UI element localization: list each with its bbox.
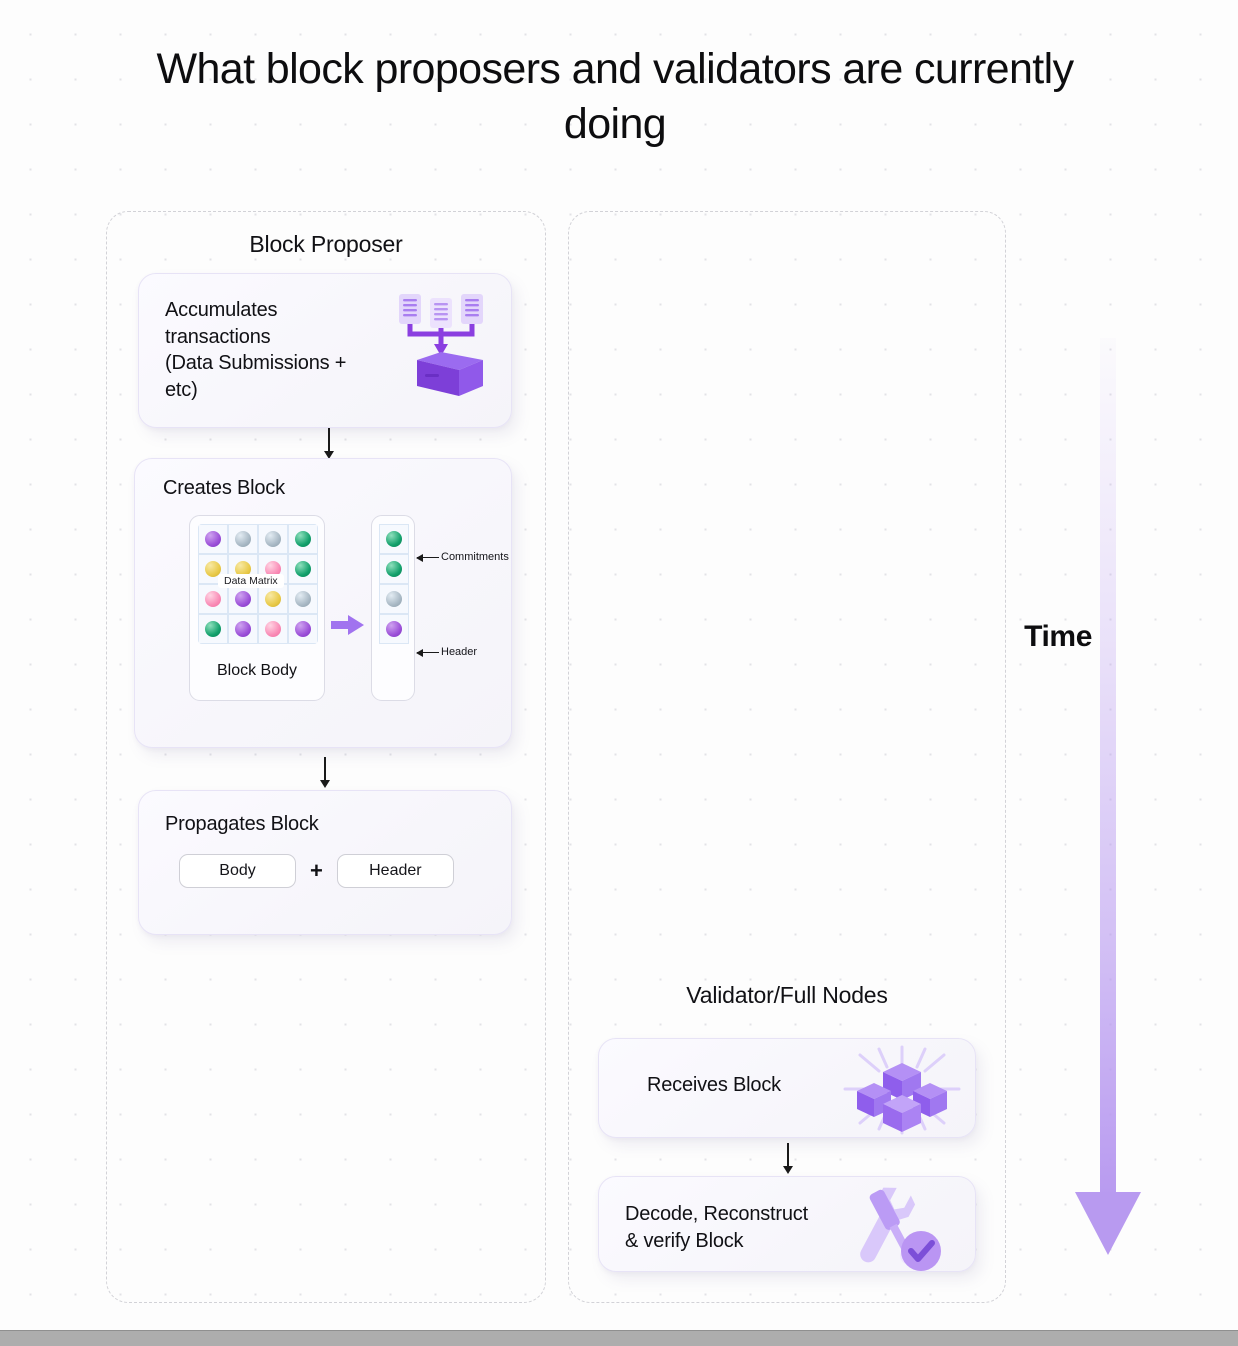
matrix-cell	[228, 614, 258, 644]
card-creates-block: Creates Block Data Matrix Block Body	[134, 458, 512, 748]
block-body-caption: Block Body	[190, 662, 324, 680]
commitment-cell	[379, 524, 409, 554]
window-bottom-bar	[0, 1330, 1238, 1346]
wrench-check-icon	[837, 1181, 947, 1278]
flow-arrow-receives-to-decode	[787, 1143, 789, 1167]
header-pointer-line	[417, 652, 439, 653]
data-dot	[265, 531, 281, 547]
commitment-dot	[386, 531, 402, 547]
data-dot	[295, 591, 311, 607]
flow-arrow-creates-to-propagates	[324, 757, 326, 781]
card-title-accumulates: Accumulates transactions (Data Submissio…	[165, 297, 390, 403]
data-dot	[235, 591, 251, 607]
commitment-cell	[379, 614, 409, 644]
data-dot	[295, 531, 311, 547]
time-axis-arrowhead	[1075, 1192, 1141, 1255]
lane-title-validator: Validator/Full Nodes	[569, 982, 1005, 1009]
card-title-decode: Decode, Reconstruct & verify Block	[625, 1201, 808, 1255]
data-dot	[205, 531, 221, 547]
commitment-cell	[379, 584, 409, 614]
block-body-box: Data Matrix Block Body	[189, 515, 325, 701]
data-dot	[205, 591, 221, 607]
card-decode-reconstruct-verify: Decode, Reconstruct & verify Block	[598, 1176, 976, 1272]
card-propagates-block: Propagates Block Body + Header	[138, 790, 512, 935]
matrix-cell	[288, 584, 318, 614]
data-matrix-label: Data Matrix	[218, 574, 284, 588]
time-axis-label: Time	[1000, 620, 1092, 654]
matrix-cell	[198, 614, 228, 644]
documents-into-box-icon	[397, 290, 489, 405]
propagate-parts-row: Body + Header	[179, 854, 454, 888]
card-title-creates: Creates Block	[163, 475, 285, 502]
pill-header[interactable]: Header	[337, 854, 454, 888]
data-dot	[295, 621, 311, 637]
data-dot	[235, 531, 251, 547]
data-dot	[265, 591, 281, 607]
commitment-cell	[379, 554, 409, 584]
matrix-cell	[198, 524, 228, 554]
annotation-header: Header	[441, 646, 477, 658]
card-receives-block: Receives Block	[598, 1038, 976, 1138]
card-title-propagates: Propagates Block	[165, 811, 319, 838]
block-header-box	[371, 515, 415, 701]
data-dot	[205, 621, 221, 637]
lane-title-proposer: Block Proposer	[107, 231, 545, 258]
matrix-cell	[258, 584, 288, 614]
matrix-cell	[288, 614, 318, 644]
data-dot	[295, 561, 311, 577]
transform-arrow-icon	[331, 614, 365, 636]
matrix-cell	[288, 554, 318, 584]
data-dot	[265, 621, 281, 637]
commitment-dot	[386, 621, 402, 637]
page-title: What block proposers and validators are …	[110, 42, 1120, 152]
commitment-dot	[386, 561, 402, 577]
time-axis-bar	[1100, 338, 1116, 1198]
card-accumulates-transactions: Accumulates transactions (Data Submissio…	[138, 273, 512, 428]
annotation-commitments: Commitments	[441, 551, 509, 563]
matrix-cell	[228, 584, 258, 614]
cube-cluster-icon	[827, 1039, 977, 1144]
card-title-receives: Receives Block	[647, 1072, 781, 1099]
commitments-pointer-line	[417, 557, 439, 558]
matrix-cell	[228, 524, 258, 554]
commitment-dot	[386, 591, 402, 607]
matrix-cell	[288, 524, 318, 554]
data-dot	[235, 621, 251, 637]
matrix-cell	[198, 584, 228, 614]
matrix-cell	[258, 614, 288, 644]
flow-arrow-accumulate-to-creates	[328, 428, 330, 452]
pill-body[interactable]: Body	[179, 854, 296, 888]
matrix-cell	[258, 524, 288, 554]
plus-icon: +	[310, 858, 323, 884]
commitments-column	[379, 524, 409, 644]
